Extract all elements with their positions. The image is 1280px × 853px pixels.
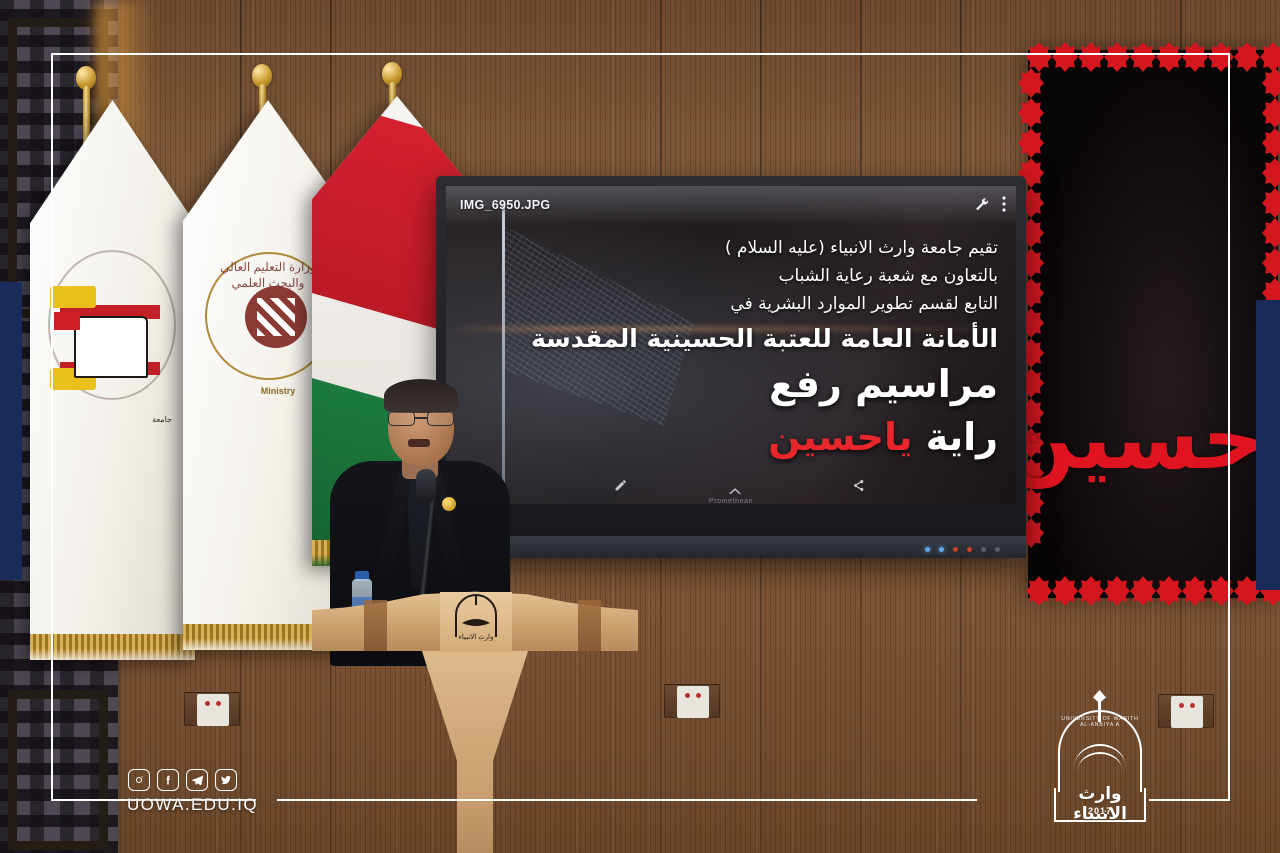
wall-socket (184, 692, 240, 726)
speaker-glasses (387, 411, 455, 426)
lattice-frame-bottom (8, 690, 108, 850)
speaker-mouth (408, 439, 430, 447)
slide-line-3: التابع لقسم تطوير الموارد البشرية في (531, 290, 998, 318)
wall-socket (664, 684, 720, 718)
interactive-flat-panel-display[interactable]: IMG_6950.JPG تقيم جامعة وارث الانبياء (ع… (436, 176, 1026, 558)
navy-accent-bar-left (0, 282, 22, 580)
banner-border-bottom (1026, 576, 1280, 606)
display-brand-label: Promethean (436, 498, 1026, 505)
shrine-emblem-gold-left (50, 286, 96, 308)
slide-calligraphy-line: الأمانة العامة للعتبة الحسينية المقدسة (531, 324, 998, 353)
slide-line-2: بالتعاون مع شعبة رعاية الشباب (531, 262, 998, 290)
banner-arabic-text: حسين (1002, 401, 1264, 478)
website-url: UOWA.EDU.IQ (127, 795, 258, 815)
display-screen[interactable]: IMG_6950.JPG تقيم جامعة وارث الانبياء (ع… (446, 186, 1016, 504)
microphone-head (416, 469, 436, 503)
share-icon[interactable] (852, 479, 865, 496)
slide-headline-2: راية ياحسين (531, 416, 998, 459)
holy-shrine-flag: جامعة (30, 100, 195, 660)
viewer-bottom-toolbar[interactable] (446, 476, 1016, 498)
slide-line-1: تقيم جامعة وارث الانبياء (عليه السلام ) (531, 234, 998, 262)
viewer-toolbar-icons[interactable] (975, 196, 1006, 217)
podium-emblem: وارث الانبياء (446, 593, 506, 651)
slide-headline-red: ياحسين (768, 415, 912, 459)
facebook-icon[interactable] (157, 769, 179, 791)
logo-arabic-name: وارث الانبياء (1054, 784, 1146, 824)
social-icons-group[interactable] (128, 769, 237, 791)
flag-fringe (30, 634, 195, 660)
speaker-lapel-badge (442, 497, 456, 511)
telegram-icon[interactable] (186, 769, 208, 791)
display-status-indicators (925, 547, 1000, 552)
podium-inlay-stripe (578, 600, 601, 651)
speaker-hair (384, 379, 458, 413)
more-vertical-icon[interactable] (1002, 196, 1006, 217)
slide-text-block: تقيم جامعة وارث الانبياء (عليه السلام ) … (531, 234, 998, 458)
image-filename-label: IMG_6950.JPG (460, 198, 550, 212)
podium-inlay-stripe (364, 600, 387, 651)
university-logo: UNIVERSITY OF WARITH AL-ANBIYA A وارث ال… (1040, 700, 1160, 820)
wall-socket (1158, 694, 1214, 728)
logo-year: 2017 (1054, 806, 1146, 816)
banner-fabric (1028, 50, 1278, 598)
wrench-icon[interactable] (975, 197, 990, 217)
instagram-icon[interactable] (128, 769, 150, 791)
twitter-icon[interactable] (215, 769, 237, 791)
logo-ring-text: UNIVERSITY OF WARITH AL-ANBIYA A (1058, 716, 1142, 728)
display-bottom-bezel (436, 536, 1026, 558)
mourning-banner: حسين (1028, 50, 1278, 598)
power-led (925, 547, 930, 552)
slide-headline-white: راية (926, 415, 998, 459)
shrine-emblem-red-flag (54, 312, 80, 330)
podium-emblem-text: وارث الانبياء (446, 633, 506, 641)
banner-border-top (1026, 42, 1280, 72)
pencil-icon[interactable] (614, 479, 627, 496)
screenshot-root: حسين جامعة وزارة التعليم العالي والبحث ا… (0, 0, 1280, 853)
navy-accent-bar-right (1256, 300, 1280, 590)
slide-headline-1: مراسيم رفع (531, 363, 998, 406)
shrine-emblem-shield (74, 316, 148, 378)
